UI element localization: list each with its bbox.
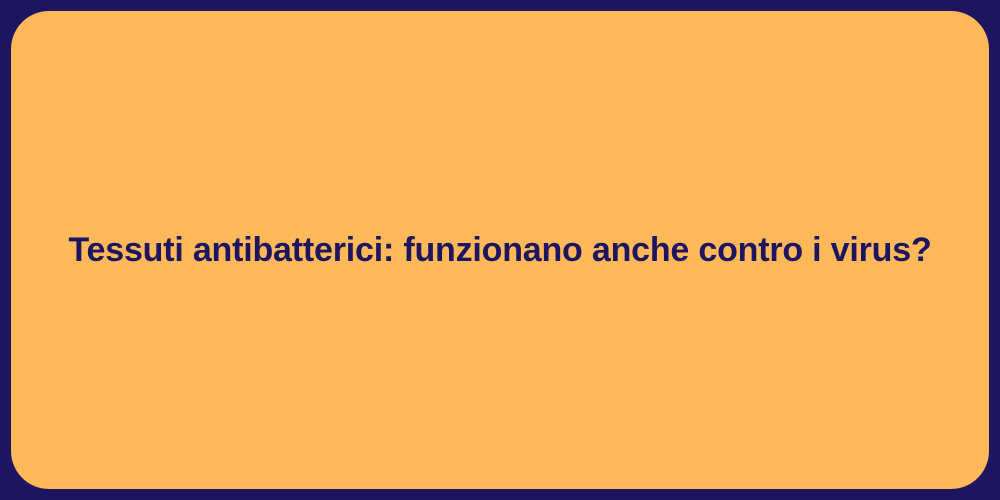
banner-title: Tessuti antibatterici: funzionano anche …	[68, 229, 931, 272]
banner-frame: Tessuti antibatterici: funzionano anche …	[0, 0, 1000, 500]
banner-card: Tessuti antibatterici: funzionano anche …	[11, 11, 989, 489]
